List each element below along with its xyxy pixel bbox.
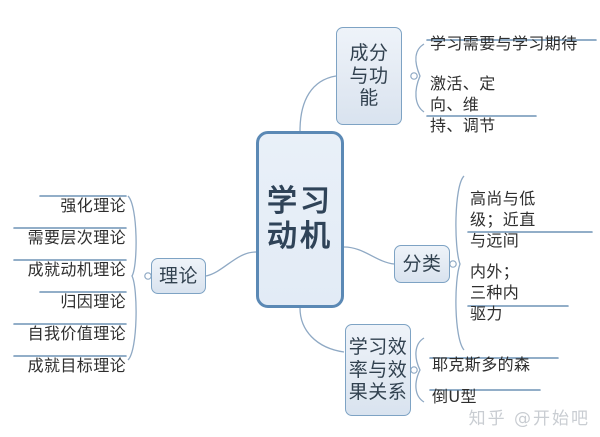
wire-root-theory bbox=[206, 252, 256, 276]
leaf-theory-6-label: 成就目标理论 bbox=[28, 356, 126, 375]
leaf-components-1-label: 学习需要与学习期待 bbox=[430, 34, 578, 53]
watermark: 知乎 @开始吧 bbox=[469, 404, 590, 429]
leaf-classification-1[interactable]: 高尚与低 级；近直 与远间 bbox=[470, 167, 536, 251]
leaf-components-2-label: 激活、定 向、维 持、调节 bbox=[430, 74, 496, 135]
branch-label-components: 成分 与功 能 bbox=[349, 42, 388, 109]
joint-classification bbox=[450, 261, 456, 267]
joint-components bbox=[411, 73, 417, 79]
leaf-classification-2-label: 内外； 三种内 驱力 bbox=[470, 262, 519, 323]
leaf-efficiency-2[interactable]: 倒U型 bbox=[432, 365, 477, 407]
leaf-theory-6[interactable]: 成就目标理论 bbox=[6, 334, 126, 376]
leaf-classification-2[interactable]: 内外； 三种内 驱力 bbox=[470, 240, 519, 324]
leaf-components-2[interactable]: 激活、定 向、维 持、调节 bbox=[430, 52, 496, 136]
branch-label-classification: 分类 bbox=[402, 253, 441, 275]
leaf-components-1[interactable]: 学习需要与学习期待 bbox=[430, 12, 578, 54]
mindmap-canvas: 学习动机 成分 与功 能 学习需要与学习期待 激活、定 向、维 持、调节 理论 … bbox=[0, 0, 600, 437]
wire-root-classification bbox=[344, 247, 394, 264]
brace-classification bbox=[456, 176, 464, 350]
branch-node-classification[interactable]: 分类 bbox=[394, 245, 450, 283]
branch-node-theory[interactable]: 理论 bbox=[151, 258, 206, 294]
brace-theory bbox=[128, 196, 136, 360]
wire-root-components bbox=[300, 76, 336, 131]
branch-label-theory: 理论 bbox=[159, 265, 198, 287]
branch-node-components[interactable]: 成分 与功 能 bbox=[336, 27, 402, 125]
joint-efficiency bbox=[411, 367, 417, 373]
root-node[interactable]: 学习动机 bbox=[256, 131, 344, 308]
root-node-label: 学习动机 bbox=[259, 185, 341, 253]
wire-root-efficiency bbox=[300, 308, 344, 352]
branch-label-efficiency: 学习效 率与效 果关系 bbox=[349, 336, 408, 403]
branch-node-efficiency[interactable]: 学习效 率与效 果关系 bbox=[345, 324, 411, 416]
